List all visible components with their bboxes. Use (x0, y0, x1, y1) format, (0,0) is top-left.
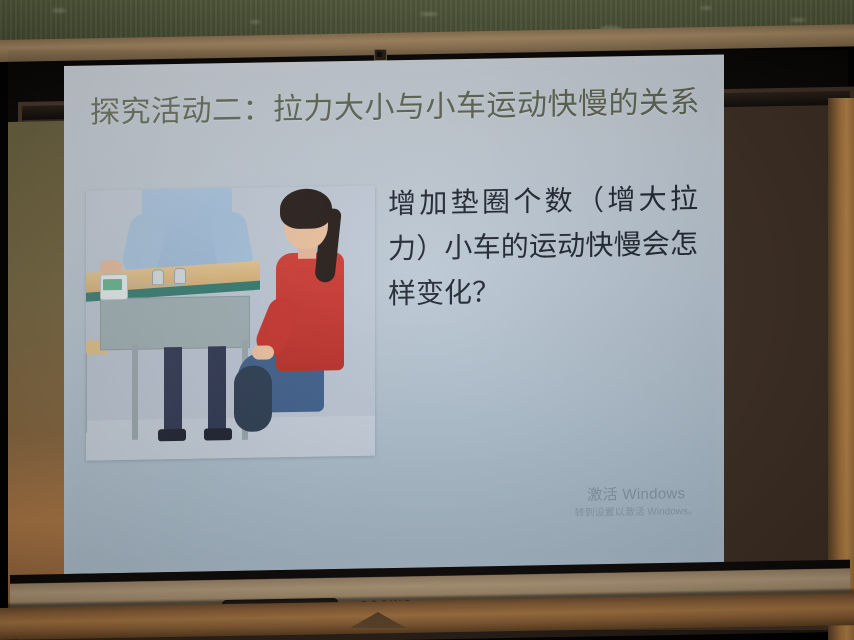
slide-title: 探究活动二：拉力大小与小车运动快慢的关系 (90, 81, 710, 135)
photo-desk-leg (132, 345, 138, 440)
panel-camera-lens-icon (377, 52, 382, 57)
photo-student-blue-shoe (204, 428, 232, 440)
chalk-smudge (52, 8, 66, 13)
photo-student-blue-leg (208, 346, 226, 432)
chalk-smudge (700, 6, 712, 10)
slide-photo (86, 186, 375, 461)
photo-student-blue-shoe (158, 429, 186, 441)
photo-cart (152, 269, 164, 285)
photo-desk-apron (100, 296, 250, 351)
photo-chair-leg (86, 353, 87, 433)
watermark-subtitle: 转到设置以激活 Windows。 (575, 504, 698, 521)
chalk-smudge (420, 12, 438, 16)
windows-activation-watermark: 激活 Windows 转到设置以激活 Windows。 (575, 484, 698, 521)
presentation-slide[interactable]: 探究活动二：拉力大小与小车运动快慢的关系 (64, 54, 724, 574)
watermark-title: 激活 Windows (575, 484, 698, 506)
photo-stopwatch-screen (103, 279, 122, 290)
classroom-scene: 探究活动二：拉力大小与小车运动快慢的关系 (0, 0, 854, 640)
photo-student-red-hair (280, 188, 332, 229)
photo-cart (174, 268, 186, 284)
chalk-smudge (250, 20, 260, 24)
slide-body-text: 增加垫圈个数（增大拉力）小车的运动快慢会怎样变化？ (388, 177, 698, 317)
chalk-smudge (790, 18, 806, 22)
photo-student-red-hand (252, 345, 274, 359)
photo-student-red-knee (234, 365, 272, 432)
wall-wood-trim (828, 98, 854, 640)
photo-student-blue-leg (164, 347, 182, 433)
